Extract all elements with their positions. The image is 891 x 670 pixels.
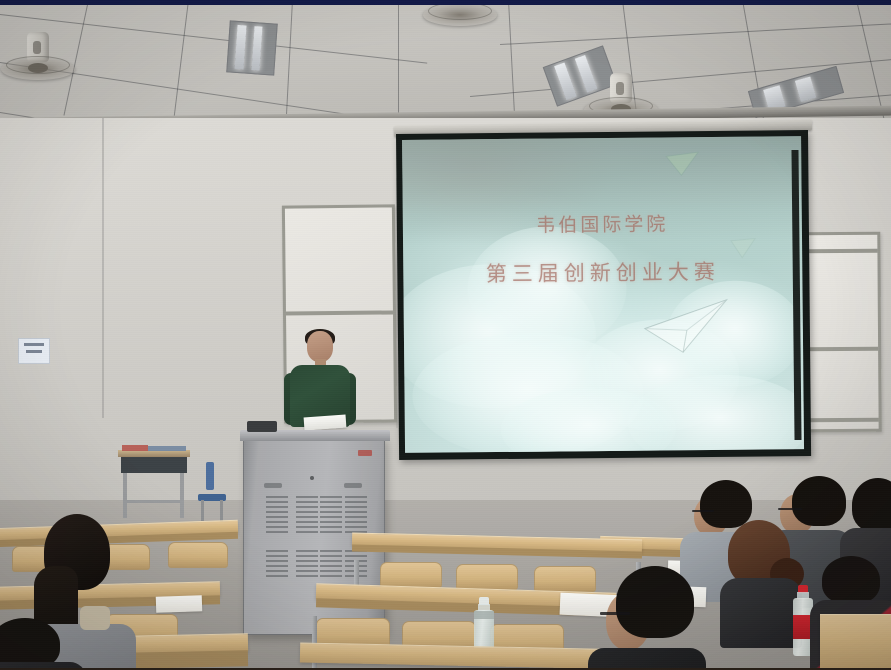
side-table-apron bbox=[121, 457, 187, 473]
side-table-leg bbox=[123, 473, 127, 518]
paper-airplane-icon bbox=[665, 150, 699, 176]
student-hair bbox=[792, 476, 846, 526]
table-book bbox=[122, 445, 148, 451]
bench-seatback bbox=[534, 566, 596, 592]
student-glasses bbox=[778, 508, 802, 510]
projection-screen: 韦伯国际学院 第三届创新创业大赛 bbox=[396, 130, 811, 460]
student-hair bbox=[616, 566, 694, 638]
podium-vent-group bbox=[296, 496, 318, 536]
photo-top-border bbox=[0, 0, 891, 5]
student-jacket bbox=[720, 578, 802, 648]
student-jacket bbox=[588, 648, 706, 670]
side-table-leg bbox=[180, 473, 184, 518]
table-papers bbox=[148, 446, 186, 451]
podium-vent-group bbox=[266, 550, 288, 580]
projection-screen-surface: 韦伯国际学院 第三届创新创业大赛 bbox=[402, 136, 804, 453]
side-table-stretcher bbox=[123, 500, 184, 503]
fan-hub bbox=[28, 63, 48, 73]
podium-vent-group bbox=[320, 550, 342, 580]
fluorescent-light-panel bbox=[226, 20, 278, 75]
podium-vent-group bbox=[296, 550, 318, 580]
bench-seatback bbox=[380, 562, 442, 588]
wall-sign-line-2 bbox=[26, 350, 42, 353]
chair-back bbox=[206, 462, 214, 490]
paper-airplane-icon bbox=[643, 293, 732, 356]
side-table-top bbox=[118, 450, 190, 457]
side-table bbox=[118, 450, 190, 473]
student-glasses bbox=[692, 510, 714, 512]
presenter-head bbox=[307, 331, 333, 362]
paper-on-desk bbox=[156, 595, 203, 613]
student-hair bbox=[852, 478, 891, 532]
classroom-photo: 韦伯国际学院 第三届创新创业大赛 bbox=[0, 0, 891, 670]
student-hair bbox=[700, 480, 752, 528]
whiteboard-right bbox=[800, 232, 881, 433]
podium-vent-group bbox=[320, 496, 342, 536]
podium-handle bbox=[344, 483, 362, 488]
bench-seatback bbox=[168, 542, 228, 568]
desk-surface bbox=[820, 614, 891, 670]
student-hair bbox=[822, 556, 880, 604]
wall-sign bbox=[18, 338, 50, 364]
podium-logo bbox=[358, 450, 372, 456]
podium-vent-group bbox=[266, 496, 288, 536]
wall-sign-line-1 bbox=[24, 343, 44, 346]
slide-title-line-2: 第三届创新创业大赛 bbox=[403, 255, 802, 289]
student-glasses bbox=[600, 612, 630, 615]
podium-indicator-led bbox=[310, 476, 314, 480]
podium-equipment bbox=[247, 421, 277, 432]
student-scarf bbox=[80, 606, 110, 630]
podium-handle bbox=[264, 483, 282, 488]
slide-title-line-1: 韦伯国际学院 bbox=[403, 208, 802, 239]
podium-vent-group bbox=[345, 496, 367, 536]
bench-seatback bbox=[456, 564, 518, 590]
bottle-label bbox=[474, 611, 494, 619]
